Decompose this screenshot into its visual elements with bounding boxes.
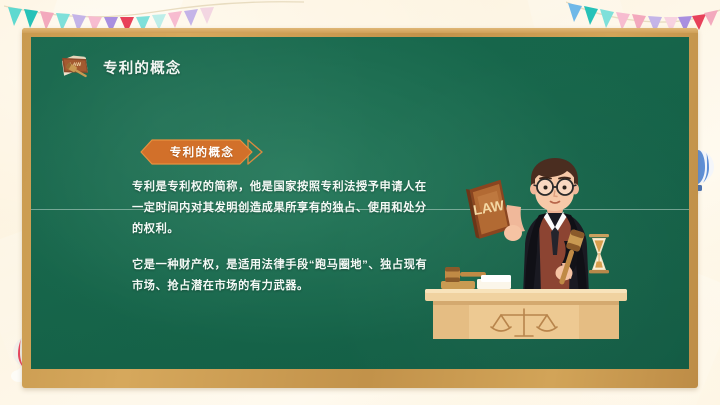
- paragraph: 专利是专利权的简称，他是国家按照专利法授予申请人在一定时间内对其发明创造成果所享…: [132, 177, 432, 240]
- body-copy: 专利是专利权的简称，他是国家按照专利法授予申请人在一定时间内对其发明创造成果所享…: [132, 177, 432, 297]
- judge-character-illustration: LAW: [421, 155, 631, 339]
- judge-bench: [425, 289, 627, 339]
- section-badge-label: 专利的概念: [140, 139, 264, 165]
- paragraph: 它是一种财产权，是适用法律手段“跑马圈地”、独占现有市场、抢占潜在市场的有力武器…: [132, 255, 432, 297]
- section-badge: 专利的概念: [140, 139, 264, 165]
- slide-header: LAW 专利的概念: [57, 51, 182, 83]
- page-title: 专利的概念: [103, 57, 182, 78]
- slide-canvas: LAW 专利的概念: [0, 0, 720, 405]
- chalkboard-surface: LAW 专利的概念: [31, 37, 689, 369]
- law-book-gavel-icon: LAW: [57, 51, 95, 83]
- chalkboard-frame: LAW 专利的概念: [22, 28, 698, 388]
